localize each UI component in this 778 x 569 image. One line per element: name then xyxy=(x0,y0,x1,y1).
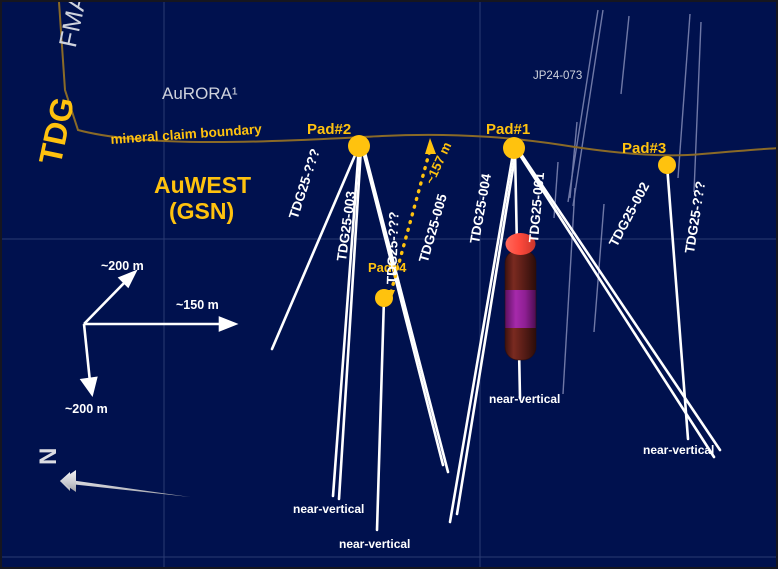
trace-tdg25-004 xyxy=(450,148,514,522)
drillhole-plan-map: FMAR TDG AuRORA¹ AuWEST (GSN) mineral cl… xyxy=(0,0,778,569)
scale-arrows xyxy=(82,272,235,394)
trace-tdg25-002b xyxy=(521,154,720,450)
graticule xyxy=(2,2,778,569)
trace-tdg25-unknown-pad4 xyxy=(377,298,384,530)
core-interval-tdg25-001 xyxy=(505,233,536,360)
map-canvas xyxy=(2,2,778,569)
mineral-claim-boundary xyxy=(59,2,778,155)
pad-marker-pad2 xyxy=(348,135,370,157)
distance-arrow xyxy=(384,138,436,304)
pad-marker-pad3 xyxy=(658,156,676,174)
trace-tdg25-005b xyxy=(364,149,448,472)
north-arrow xyxy=(60,470,190,497)
drillhole-traces xyxy=(272,146,720,530)
trace-tdg25-005 xyxy=(362,147,443,465)
trace-tdg25-003b xyxy=(339,148,361,499)
pad-marker-pad1 xyxy=(503,137,525,159)
